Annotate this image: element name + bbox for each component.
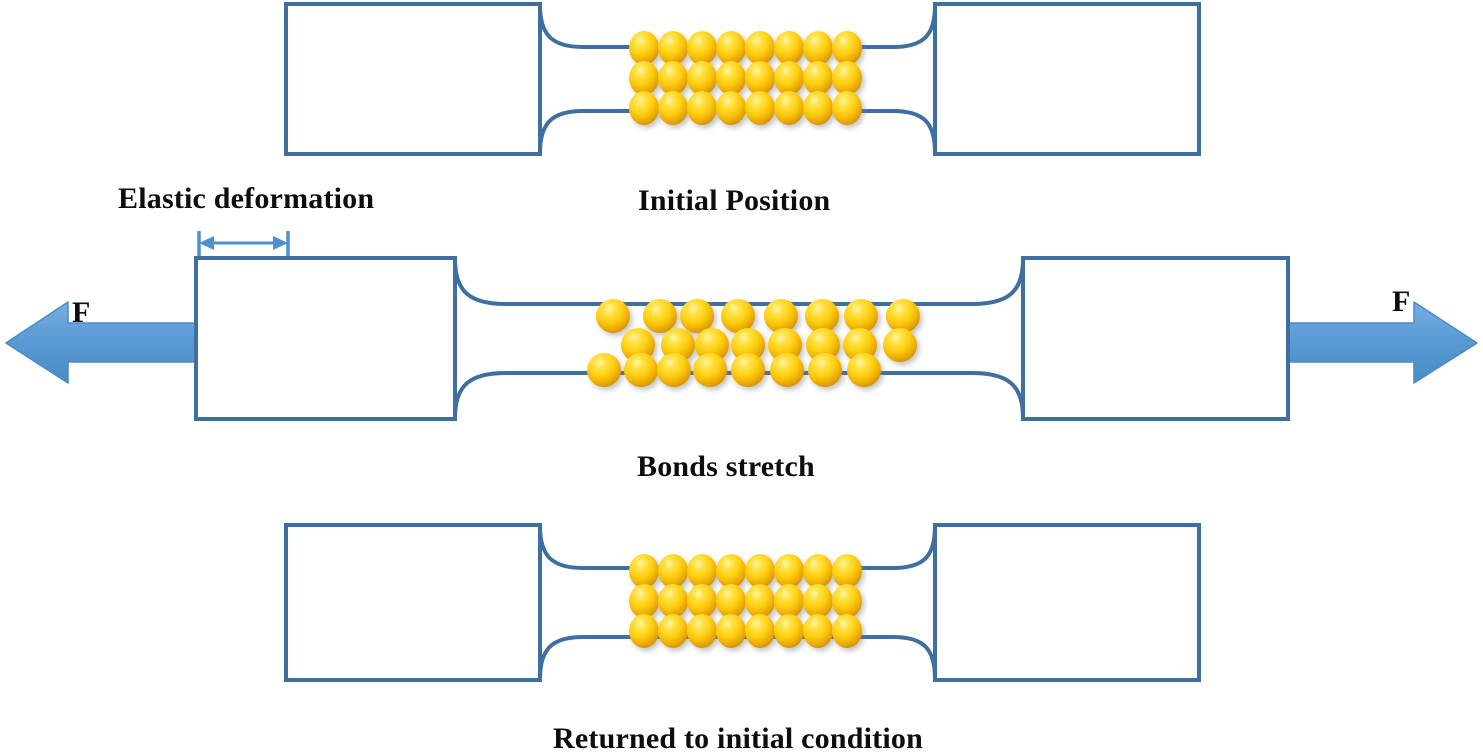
caption-returned-to-initial-condition: Returned to initial condition	[553, 722, 923, 756]
diagram-svg	[0, 0, 1483, 752]
force-arrow-right	[1288, 302, 1477, 383]
specimen-stretched-atoms	[587, 299, 920, 387]
force-label-right: F	[1392, 285, 1410, 319]
specimen-returned	[286, 525, 1199, 680]
caption-initial-position: Initial Position	[638, 184, 830, 218]
specimen-returned-left-grip	[286, 525, 540, 680]
specimen-stretched-neck-top	[455, 259, 1023, 304]
force-label-left: F	[72, 296, 90, 330]
diagram-canvas: Elastic deformation Initial Position Bon…	[0, 0, 1483, 752]
caption-elastic-deformation: Elastic deformation	[118, 182, 374, 216]
specimen-stretched-right-grip	[1023, 258, 1288, 419]
specimen-stretched	[6, 258, 1477, 419]
specimen-initial-left-grip	[286, 4, 540, 154]
force-arrow-left	[6, 302, 196, 383]
caption-bonds-stretch: Bonds stretch	[637, 450, 815, 484]
specimen-stretched-left-grip	[196, 258, 455, 419]
specimen-initial	[286, 4, 1199, 154]
specimen-initial-right-grip	[935, 4, 1199, 154]
elastic-elongation-dimension	[199, 231, 288, 258]
specimen-initial-atoms	[629, 31, 862, 125]
specimen-returned-atoms	[629, 554, 862, 648]
specimen-returned-right-grip	[935, 525, 1199, 680]
